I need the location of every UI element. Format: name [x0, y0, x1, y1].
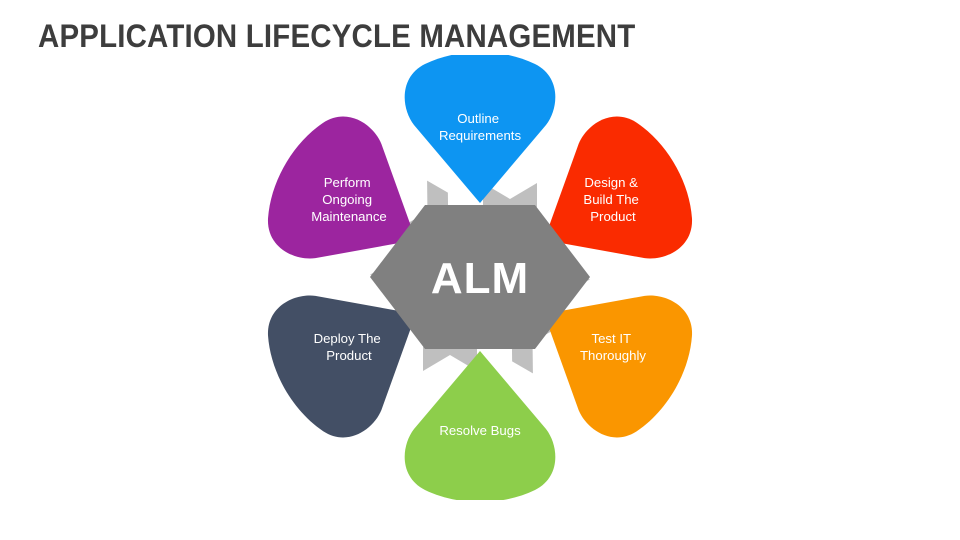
petal-label: Resolve Bugs — [439, 423, 521, 438]
slide-canvas: APPLICATION LIFECYCLE MANAGEMENT Outl — [0, 0, 960, 540]
alm-cycle-diagram: Outline Requirements Design & Build The … — [250, 55, 710, 500]
petal-label: Design & Build The Product — [583, 175, 642, 224]
hub-label: ALM — [431, 254, 529, 303]
page-title: APPLICATION LIFECYCLE MANAGEMENT — [38, 18, 635, 55]
